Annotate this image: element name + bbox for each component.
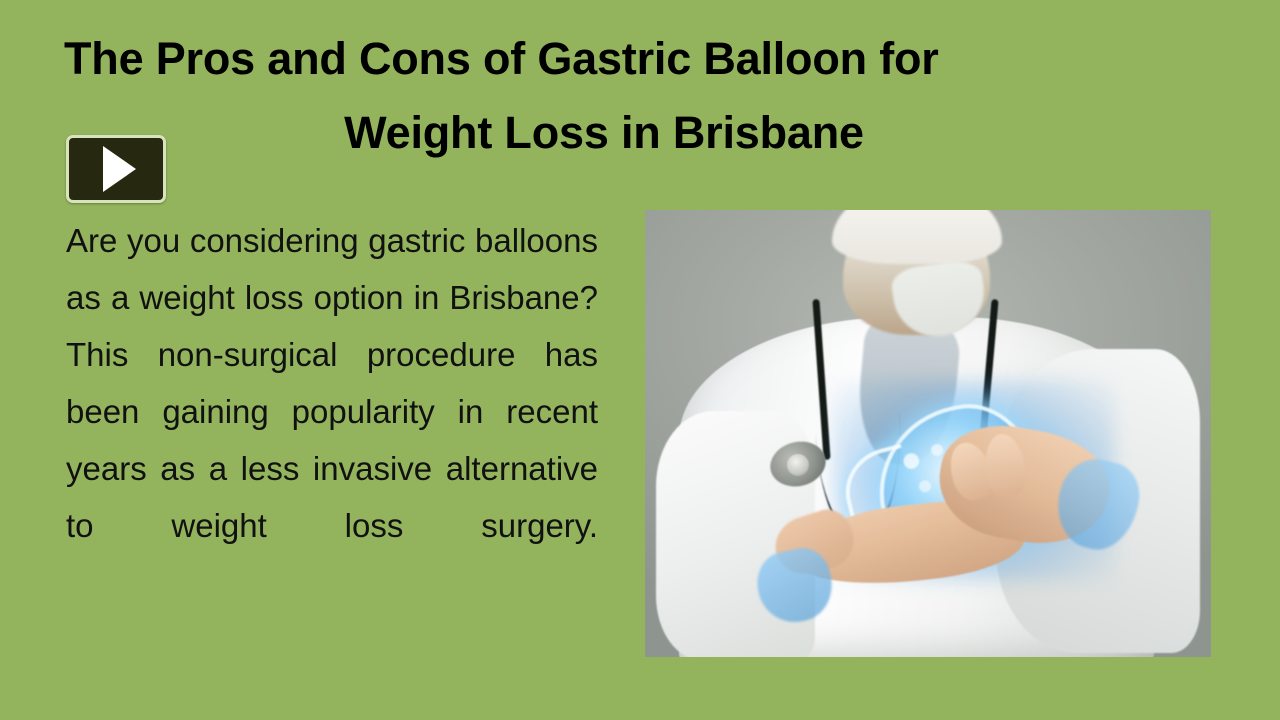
page-title-line-1: The Pros and Cons of Gastric Balloon for	[62, 22, 1152, 96]
presentation-slide: The Pros and Cons of Gastric Balloon for…	[0, 0, 1280, 720]
stethoscope-chestpiece-center	[787, 454, 809, 476]
body-paragraph: Are you considering gastric balloons as …	[66, 212, 598, 611]
play-triangle-icon	[103, 146, 136, 192]
page-title: The Pros and Cons of Gastric Balloon for…	[62, 22, 1152, 170]
slide-photo	[645, 210, 1211, 657]
surgical-cap	[832, 210, 1002, 264]
page-title-line-2: Weight Loss in Brisbane	[62, 96, 1152, 170]
photo-illustration	[645, 210, 1211, 657]
play-button[interactable]	[66, 135, 166, 203]
